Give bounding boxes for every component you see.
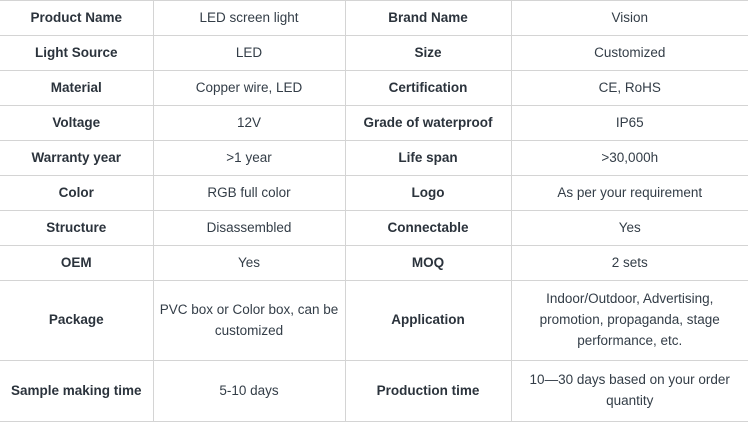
row-label-left: OEM xyxy=(0,246,153,281)
row-value-left: 5-10 days xyxy=(153,361,345,422)
row-label-right: Production time xyxy=(345,361,511,422)
row-label-right: Size xyxy=(345,36,511,71)
row-value-right: Yes xyxy=(511,211,748,246)
row-value-right: >30,000h xyxy=(511,141,748,176)
row-value-right: 10—30 days based on your order quantity xyxy=(511,361,748,422)
row-label-right: MOQ xyxy=(345,246,511,281)
row-label-left: Material xyxy=(0,71,153,106)
row-label-left: Light Source xyxy=(0,36,153,71)
row-label-left: Warranty year xyxy=(0,141,153,176)
row-label-left: Package xyxy=(0,281,153,361)
table-row: OEMYesMOQ2 sets xyxy=(0,246,748,281)
row-value-left: RGB full color xyxy=(153,176,345,211)
row-label-right: Brand Name xyxy=(345,1,511,36)
row-value-right: IP65 xyxy=(511,106,748,141)
product-specification-table: Product NameLED screen lightBrand NameVi… xyxy=(0,0,748,422)
row-value-left: 12V xyxy=(153,106,345,141)
table-row: PackagePVC box or Color box, can be cust… xyxy=(0,281,748,361)
row-label-left: Structure xyxy=(0,211,153,246)
row-value-left: Yes xyxy=(153,246,345,281)
row-value-left: LED xyxy=(153,36,345,71)
table-row: Product NameLED screen lightBrand NameVi… xyxy=(0,1,748,36)
row-value-right: Indoor/Outdoor, Advertising, promotion, … xyxy=(511,281,748,361)
row-label-right: Logo xyxy=(345,176,511,211)
table-row: Voltage12VGrade of waterproofIP65 xyxy=(0,106,748,141)
row-value-left: >1 year xyxy=(153,141,345,176)
table-row: Light SourceLEDSizeCustomized xyxy=(0,36,748,71)
row-value-left: Disassembled xyxy=(153,211,345,246)
row-label-left: Product Name xyxy=(0,1,153,36)
row-value-right: CE, RoHS xyxy=(511,71,748,106)
table-row: Warranty year>1 yearLife span>30,000h xyxy=(0,141,748,176)
table-body: Product NameLED screen lightBrand NameVi… xyxy=(0,1,748,422)
row-value-left: LED screen light xyxy=(153,1,345,36)
row-label-right: Life span xyxy=(345,141,511,176)
row-value-right: As per your requirement xyxy=(511,176,748,211)
row-value-right: Customized xyxy=(511,36,748,71)
row-value-left: PVC box or Color box, can be customized xyxy=(153,281,345,361)
row-label-left: Color xyxy=(0,176,153,211)
table-row: Sample making time5-10 daysProduction ti… xyxy=(0,361,748,422)
row-value-left: Copper wire, LED xyxy=(153,71,345,106)
row-value-right: Vision xyxy=(511,1,748,36)
row-label-right: Application xyxy=(345,281,511,361)
row-label-left: Voltage xyxy=(0,106,153,141)
row-value-right: 2 sets xyxy=(511,246,748,281)
table-row: ColorRGB full colorLogoAs per your requi… xyxy=(0,176,748,211)
table-row: MaterialCopper wire, LEDCertificationCE,… xyxy=(0,71,748,106)
row-label-right: Connectable xyxy=(345,211,511,246)
row-label-right: Grade of waterproof xyxy=(345,106,511,141)
row-label-left: Sample making time xyxy=(0,361,153,422)
table-row: StructureDisassembledConnectableYes xyxy=(0,211,748,246)
row-label-right: Certification xyxy=(345,71,511,106)
